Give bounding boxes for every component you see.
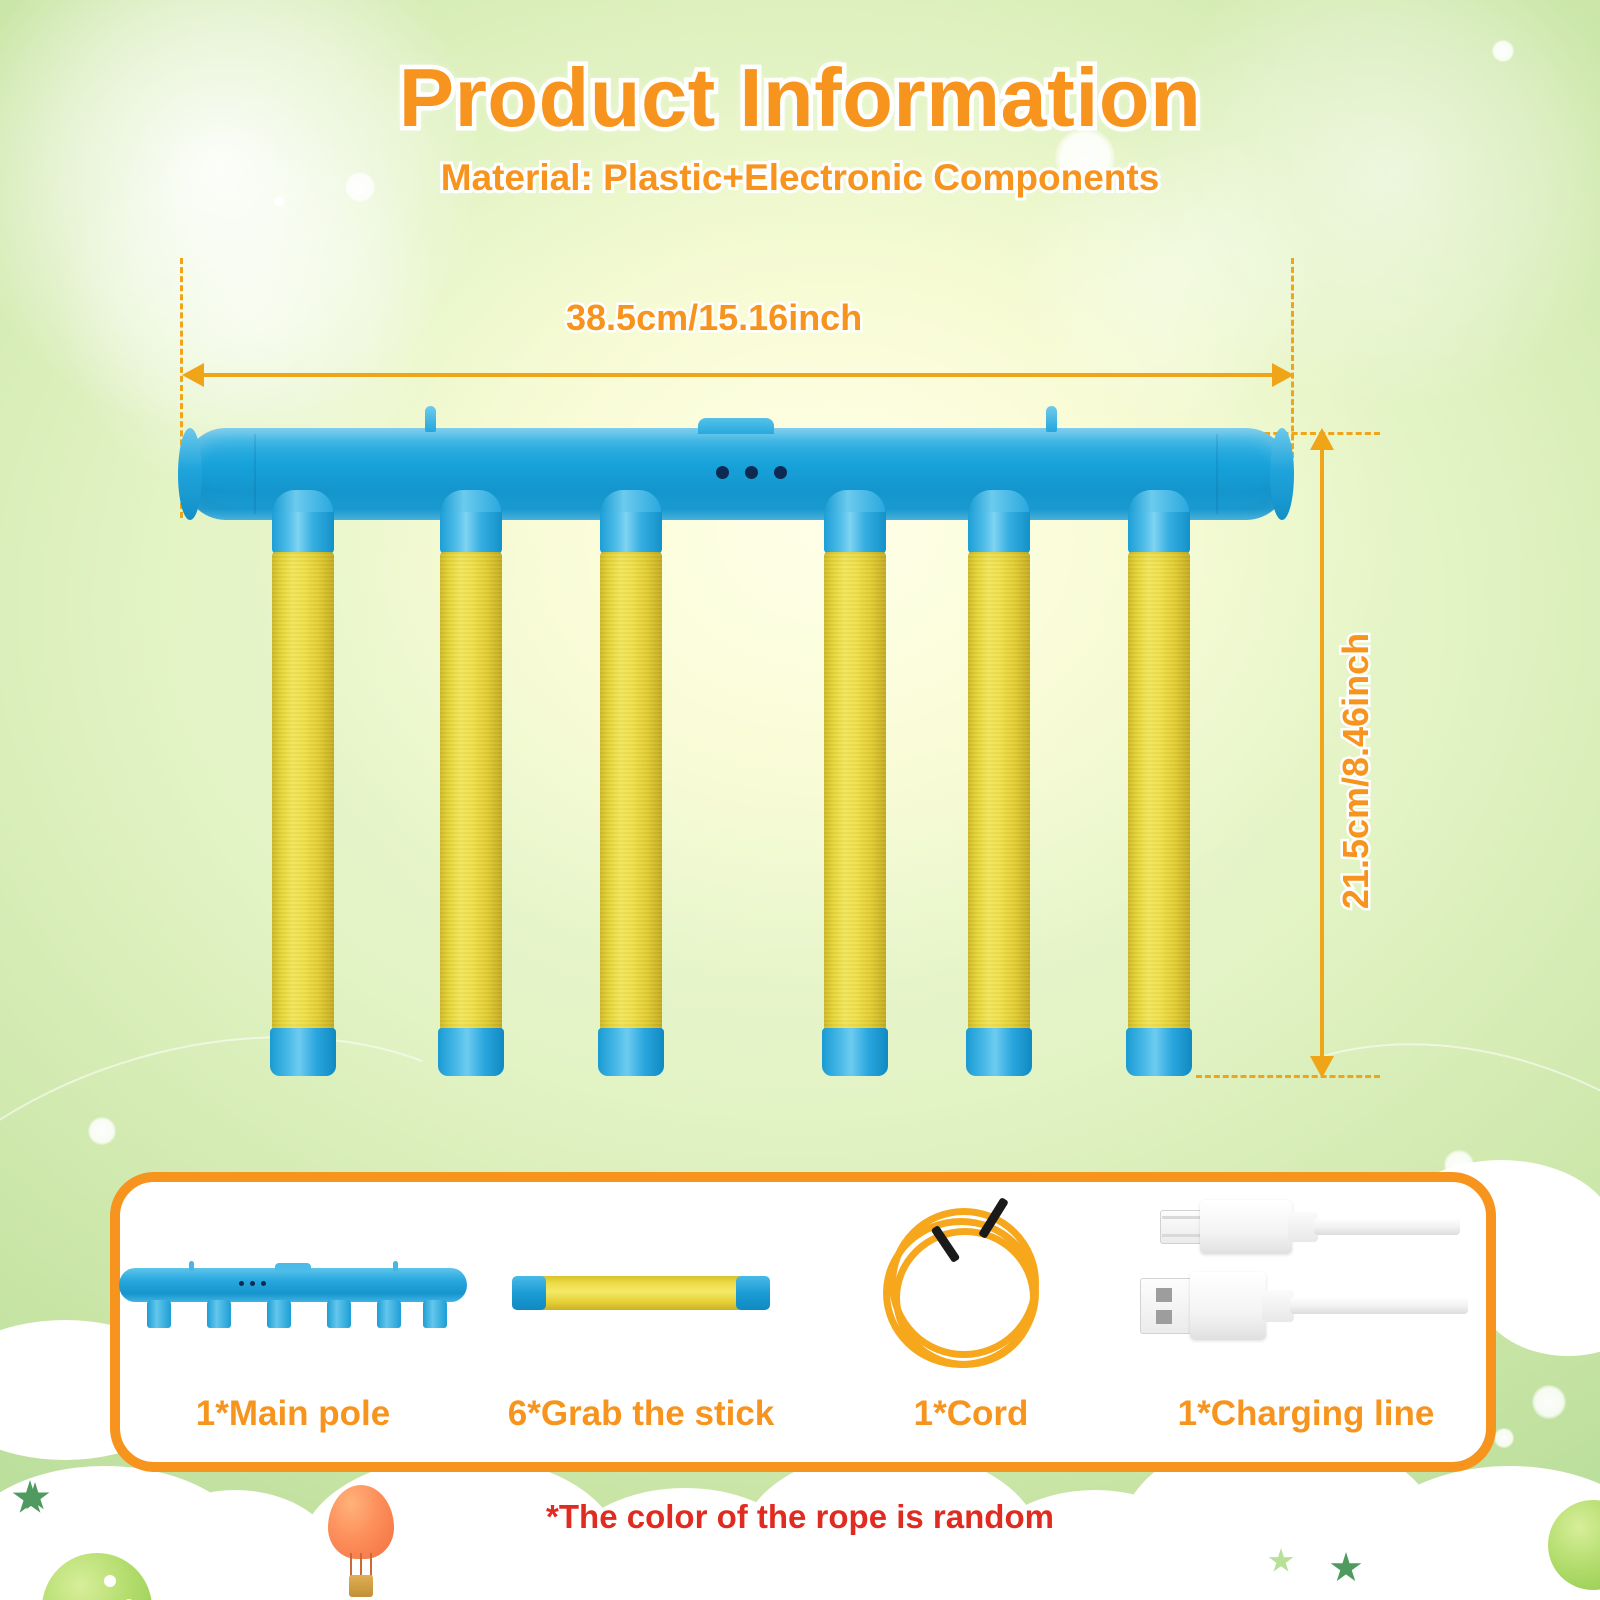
height-dimension-label: 21.5cm/8.46inch xyxy=(1335,633,1377,909)
footer-note: *The color of the rope is random xyxy=(0,1498,1600,1536)
page-title: Product Information xyxy=(0,52,1600,143)
contents-item-grab-stick: 6*Grab the stick xyxy=(466,1182,816,1462)
height-arrow-head-bottom xyxy=(1310,1056,1334,1078)
height-arrow-line xyxy=(1320,446,1324,1060)
package-contents-box: 1*Main pole 6*Grab the stick 1*Cord xyxy=(110,1172,1496,1472)
width-arrow-line xyxy=(196,373,1276,377)
grab-stick-thumbnail xyxy=(466,1182,816,1382)
contents-item-main-pole: 1*Main pole xyxy=(120,1182,466,1462)
width-dimension-label: 38.5cm/15.16inch xyxy=(566,297,862,339)
main-pole-thumbnail xyxy=(120,1182,466,1382)
contents-label-grab-stick: 6*Grab the stick xyxy=(466,1394,816,1434)
height-guide-bottom xyxy=(1196,1075,1380,1078)
charging-line-thumbnail xyxy=(1126,1182,1486,1382)
width-guide-right xyxy=(1291,258,1294,458)
header: Product Information Material: Plastic+El… xyxy=(0,52,1600,199)
cord-thumbnail xyxy=(816,1182,1126,1382)
height-arrow-head-top xyxy=(1310,428,1334,450)
contents-label-main-pole: 1*Main pole xyxy=(120,1394,466,1434)
width-guide-left xyxy=(180,258,183,518)
contents-item-cord: 1*Cord xyxy=(816,1182,1126,1462)
width-arrow-head-left xyxy=(182,363,204,387)
contents-label-cord: 1*Cord xyxy=(816,1394,1126,1434)
material-subtitle: Material: Plastic+Electronic Components xyxy=(0,157,1600,199)
width-arrow-head-right xyxy=(1272,363,1294,387)
contents-item-charging-line: 1*Charging line xyxy=(1126,1182,1486,1462)
contents-label-charging-line: 1*Charging line xyxy=(1126,1394,1486,1434)
